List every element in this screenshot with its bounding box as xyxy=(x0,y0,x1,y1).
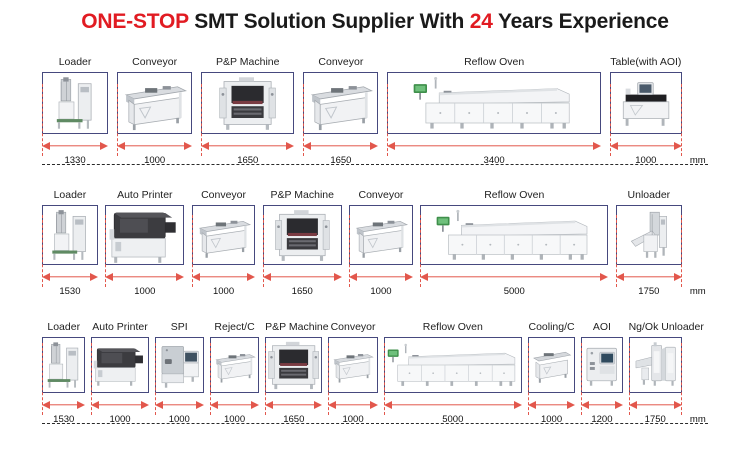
dimension-value: 1750 xyxy=(629,413,682,426)
arrow-shaft xyxy=(310,145,371,146)
equipment-photo-box[interactable] xyxy=(91,337,148,393)
arrow-shaft xyxy=(49,145,101,146)
cooling-conveyor-icon xyxy=(529,338,574,392)
dimension-value: 1000 xyxy=(349,285,412,298)
dimension-tick-left xyxy=(328,343,329,415)
equipment-cell-auto-printer[interactable]: Auto Printer xyxy=(91,320,148,393)
dimension-segment: 1000 xyxy=(610,138,682,167)
unit-label: mm xyxy=(690,285,706,298)
equipment-photo-box[interactable] xyxy=(105,205,184,265)
dimension-arrow xyxy=(42,397,85,413)
dimension-value: 5000 xyxy=(420,285,608,298)
dimension-tick-left xyxy=(616,215,617,287)
equipment-photo-box[interactable] xyxy=(610,72,682,134)
equipment-cell-conveyor[interactable]: Conveyor xyxy=(328,320,377,393)
dimension-value: 1530 xyxy=(42,413,85,426)
dimension-value: 1650 xyxy=(263,285,342,298)
equipment-cell-loader[interactable]: Loader xyxy=(42,320,85,393)
dimension-arrow xyxy=(265,397,322,413)
dimension-segment: 1330 xyxy=(42,138,108,167)
reflow-oven-icon xyxy=(388,73,599,133)
dimension-value: 1000 xyxy=(610,154,682,167)
dimension-tick-left xyxy=(528,343,529,415)
dimension-value: 1750 xyxy=(616,285,682,298)
dimension-segment: 3400 xyxy=(387,138,600,167)
equipment-cell-auto-printer[interactable]: Auto Printer xyxy=(105,188,184,265)
production-line-3: Loader Auto Printer SPI Reject/C xyxy=(42,320,708,426)
conveyor-machine-icon xyxy=(350,206,411,264)
arrow-shaft xyxy=(356,276,405,277)
equipment-cell-cooling-c[interactable]: Cooling/C xyxy=(528,320,575,393)
dimension-segment: 1000 xyxy=(210,397,259,426)
equipment-cell-loader[interactable]: Loader xyxy=(42,55,108,134)
dimension-value: 1000 xyxy=(328,413,377,426)
dimension-tick-right xyxy=(681,215,682,287)
dimension-arrow xyxy=(387,138,600,154)
arrow-head-right-icon xyxy=(370,142,378,150)
dimension-tick-left xyxy=(155,343,156,415)
arrow-shaft xyxy=(98,404,141,405)
production-line-1: Loader Conveyor P&P Machine xyxy=(42,55,708,167)
equipment-label: Loader xyxy=(42,320,85,335)
dimension-segment: 1200 xyxy=(581,397,622,426)
loader-machine-icon xyxy=(43,206,97,264)
unit-label: mm xyxy=(690,413,706,426)
title-text-middle: SMT Solution Supplier With xyxy=(189,10,470,33)
equipment-label: Auto Printer xyxy=(91,320,148,335)
conveyor-machine-icon xyxy=(329,338,376,392)
equipment-cell-spi[interactable]: SPI xyxy=(155,320,204,393)
pnp-machine-icon xyxy=(264,206,341,264)
arrow-head-right-icon xyxy=(196,401,204,409)
dimension-arrow xyxy=(91,397,148,413)
dimension-tick-left xyxy=(210,343,211,415)
dimension-segment: 1000 xyxy=(528,397,575,426)
dimension-value: 5000 xyxy=(384,413,522,426)
dimension-arrow xyxy=(581,397,622,413)
dimension-segment: 5000 xyxy=(384,397,522,426)
dimension-tick-left xyxy=(629,343,630,415)
arrow-shaft xyxy=(112,276,177,277)
equipment-label: Reject/C xyxy=(210,320,259,335)
dimension-segment: 1650 xyxy=(265,397,322,426)
dimension-tick-left xyxy=(42,215,43,287)
dimension-tick-left xyxy=(610,84,611,156)
equipment-photo-box[interactable] xyxy=(629,337,682,393)
equipment-photo-box[interactable] xyxy=(387,72,600,134)
arrow-head-right-icon xyxy=(514,401,522,409)
equipment-photo-box[interactable] xyxy=(420,205,608,265)
pnp-machine-icon xyxy=(202,73,293,133)
dimension-value: 1530 xyxy=(42,285,98,298)
dimension-value: 1000 xyxy=(117,154,192,167)
dimension-arrow xyxy=(384,397,522,413)
equipment-label: Conveyor xyxy=(192,188,255,203)
line-2-dimension-strip: 1530100010001650100050001750mm xyxy=(42,269,708,298)
equipment-label: Reflow Oven xyxy=(387,55,600,70)
arrow-head-right-icon xyxy=(141,401,149,409)
printer-machine-icon xyxy=(106,206,183,264)
arrow-head-right-icon xyxy=(247,273,255,281)
equipment-cell-unloader[interactable]: Unloader xyxy=(616,188,682,265)
arrow-shaft xyxy=(623,276,675,277)
dimension-segment: 1000 xyxy=(155,397,204,426)
unloader-machine-icon xyxy=(617,206,681,264)
dimension-segment: 1000 xyxy=(91,397,148,426)
equipment-photo-box[interactable] xyxy=(616,205,682,265)
dimension-arrow xyxy=(610,138,682,154)
arrow-head-right-icon xyxy=(615,401,623,409)
printer-machine-icon xyxy=(92,338,147,392)
dimension-tick-left xyxy=(42,84,43,156)
arrow-shaft xyxy=(391,404,515,405)
dimension-segment: 1530 xyxy=(42,397,85,426)
equipment-cell-reflow-oven[interactable]: Reflow Oven xyxy=(384,320,522,393)
line-3-dimension-strip: 1530100010001000165010005000100012001750… xyxy=(42,397,708,426)
arrow-head-right-icon xyxy=(176,273,184,281)
arrow-shaft xyxy=(535,404,568,405)
arrow-head-right-icon xyxy=(334,273,342,281)
dimension-segment: 1000 xyxy=(349,269,412,298)
dimension-arrow xyxy=(105,269,184,285)
equipment-photo-box[interactable] xyxy=(303,72,378,134)
equipment-label: Auto Printer xyxy=(105,188,184,203)
equipment-label: P&P Machine xyxy=(263,188,342,203)
dimension-segment: 5000 xyxy=(420,269,608,298)
dimension-tick-left xyxy=(303,84,304,156)
equipment-cell-reflow-oven[interactable]: Reflow Oven xyxy=(387,55,600,134)
dimension-tick-right xyxy=(681,84,682,156)
arrow-head-right-icon xyxy=(567,401,575,409)
dimension-value: 1000 xyxy=(105,285,184,298)
dimension-arrow xyxy=(349,269,412,285)
equipment-cell-table-with-aoi[interactable]: Table(with AOI) xyxy=(610,55,682,134)
equipment-photo-box[interactable] xyxy=(328,337,377,393)
equipment-label: Conveyor xyxy=(349,188,412,203)
dimension-value: 1650 xyxy=(201,154,294,167)
arrow-shaft xyxy=(427,276,601,277)
arrow-head-right-icon xyxy=(314,401,322,409)
arrow-shaft xyxy=(49,276,91,277)
title-accent-years: 24 xyxy=(470,10,493,33)
arrow-shaft xyxy=(617,145,675,146)
dimension-value: 1000 xyxy=(210,413,259,426)
equipment-cell-loader[interactable]: Loader xyxy=(42,188,98,265)
equipment-photo-box[interactable] xyxy=(42,72,108,134)
dimension-segment: 1000 xyxy=(328,397,377,426)
equipment-cell-conveyor[interactable]: Conveyor xyxy=(117,55,192,134)
spi-machine-icon xyxy=(156,338,203,392)
arrow-shaft xyxy=(272,404,315,405)
arrow-head-right-icon xyxy=(286,142,294,150)
arrow-shaft xyxy=(394,145,593,146)
dimension-segment: 1000 xyxy=(192,269,255,298)
equipment-cell-p-p-machine[interactable]: P&P Machine xyxy=(263,188,342,265)
pnp-machine-icon xyxy=(266,338,321,392)
arrow-head-right-icon xyxy=(370,401,378,409)
dimension-arrow xyxy=(192,269,255,285)
arrow-shaft xyxy=(217,404,252,405)
dimension-segment: 1000 xyxy=(105,269,184,298)
unit-label: mm xyxy=(690,154,706,167)
equipment-label: P&P Machine xyxy=(265,320,322,335)
arrow-shaft xyxy=(335,404,370,405)
dimension-segment: 1750 xyxy=(616,269,682,298)
title-accent-one-stop: ONE-STOP xyxy=(81,10,188,33)
dimension-tick-left xyxy=(105,215,106,287)
equipment-photo-box[interactable] xyxy=(528,337,575,393)
dimension-value: 1330 xyxy=(42,154,108,167)
equipment-cell-p-p-machine[interactable]: P&P Machine xyxy=(201,55,294,134)
title-text-end: Years Experience xyxy=(493,10,669,33)
equipment-photo-box[interactable] xyxy=(42,337,85,393)
equipment-label: Reflow Oven xyxy=(420,188,608,203)
arrow-head-right-icon xyxy=(600,273,608,281)
equipment-cell-reflow-oven[interactable]: Reflow Oven xyxy=(420,188,608,265)
aoi-table-icon xyxy=(611,73,681,133)
loader-machine-icon xyxy=(43,338,84,392)
equipment-label: Ng/Ok Unloader xyxy=(629,320,682,335)
equipment-photo-box[interactable] xyxy=(201,72,294,134)
equipment-label: Conveyor xyxy=(328,320,377,335)
equipment-label: SPI xyxy=(155,320,204,335)
dimension-value: 1000 xyxy=(91,413,148,426)
arrow-shaft xyxy=(49,404,78,405)
arrow-head-right-icon xyxy=(251,401,259,409)
dimension-tick-left xyxy=(91,343,92,415)
arrow-head-right-icon xyxy=(405,273,413,281)
line-2-equipment-strip: Loader Auto Printer Conveyor P&P Machine xyxy=(42,188,708,265)
dimension-value: 3400 xyxy=(387,154,600,167)
arrow-shaft xyxy=(199,276,248,277)
dimension-value: 1000 xyxy=(528,413,575,426)
dimension-arrow xyxy=(528,397,575,413)
dimension-segment: 1650 xyxy=(201,138,294,167)
dimension-arrow xyxy=(263,269,342,285)
dimension-tick-left xyxy=(201,84,202,156)
equipment-label: Loader xyxy=(42,188,98,203)
production-line-2: Loader Auto Printer Conveyor P&P Machine xyxy=(42,188,708,298)
dimension-tick-left xyxy=(349,215,350,287)
dimension-value: 1000 xyxy=(192,285,255,298)
line-1-equipment-strip: Loader Conveyor P&P Machine xyxy=(42,55,708,134)
equipment-photo-box[interactable] xyxy=(263,205,342,265)
equipment-photo-box[interactable] xyxy=(155,337,204,393)
reflow-oven-icon xyxy=(421,206,607,264)
reflow-oven-icon xyxy=(385,338,521,392)
dimension-segment: 1530 xyxy=(42,269,98,298)
dimension-arrow xyxy=(42,269,98,285)
ngok-unloader-icon xyxy=(630,338,681,392)
equipment-label: AOI xyxy=(581,320,622,335)
dimension-value: 1650 xyxy=(265,413,322,426)
dimension-tick-left xyxy=(265,343,266,415)
dimension-value: 1650 xyxy=(303,154,378,167)
conveyor-machine-icon xyxy=(211,338,258,392)
dimension-tick-left xyxy=(581,343,582,415)
line-baseline xyxy=(42,164,708,165)
dimension-arrow xyxy=(303,138,378,154)
dimension-arrow xyxy=(420,269,608,285)
equipment-label: Unloader xyxy=(616,188,682,203)
line-1-dimension-strip: 133010001650165034001000mm xyxy=(42,138,708,167)
equipment-label: Reflow Oven xyxy=(384,320,522,335)
arrow-head-right-icon xyxy=(90,273,98,281)
dimension-arrow xyxy=(210,397,259,413)
dimension-arrow xyxy=(155,397,204,413)
arrow-shaft xyxy=(162,404,197,405)
arrow-shaft xyxy=(636,404,675,405)
equipment-photo-box[interactable] xyxy=(349,205,412,265)
arrow-shaft xyxy=(124,145,185,146)
arrow-head-right-icon xyxy=(77,401,85,409)
equipment-cell-conveyor[interactable]: Conveyor xyxy=(349,188,412,265)
dimension-tick-left xyxy=(117,84,118,156)
arrow-shaft xyxy=(588,404,615,405)
conveyor-machine-icon xyxy=(193,206,254,264)
dimension-arrow xyxy=(328,397,377,413)
dimension-value: 1000 xyxy=(155,413,204,426)
equipment-photo-box[interactable] xyxy=(42,205,98,265)
equipment-label: Table(with AOI) xyxy=(610,55,682,70)
conveyor-machine-icon xyxy=(304,73,377,133)
equipment-label: Loader xyxy=(42,55,108,70)
dimension-segment: 1650 xyxy=(263,269,342,298)
arrow-head-right-icon xyxy=(184,142,192,150)
dimension-arrow xyxy=(616,269,682,285)
page-title: ONE-STOP SMT Solution Supplier With 24 Y… xyxy=(0,10,750,34)
equipment-label: Cooling/C xyxy=(528,320,575,335)
equipment-label: Conveyor xyxy=(117,55,192,70)
arrow-shaft xyxy=(208,145,287,146)
equipment-cell-conveyor[interactable]: Conveyor xyxy=(303,55,378,134)
arrow-head-right-icon xyxy=(593,142,601,150)
dimension-value: 1200 xyxy=(581,413,622,426)
dimension-segment: 1750 xyxy=(629,397,682,426)
dimension-arrow xyxy=(42,138,108,154)
equipment-photo-box[interactable] xyxy=(265,337,322,393)
equipment-label: P&P Machine xyxy=(201,55,294,70)
dimension-tick-left xyxy=(384,343,385,415)
dimension-tick-left xyxy=(42,343,43,415)
line-3-equipment-strip: Loader Auto Printer SPI Reject/C xyxy=(42,320,708,393)
equipment-cell-p-p-machine[interactable]: P&P Machine xyxy=(265,320,322,393)
equipment-cell-conveyor[interactable]: Conveyor xyxy=(192,188,255,265)
equipment-photo-box[interactable] xyxy=(192,205,255,265)
dimension-segment: 1650 xyxy=(303,138,378,167)
dimension-tick-left xyxy=(263,215,264,287)
equipment-label: Conveyor xyxy=(303,55,378,70)
dimension-tick-right xyxy=(681,343,682,415)
dimension-arrow xyxy=(117,138,192,154)
equipment-photo-box[interactable] xyxy=(210,337,259,393)
dimension-tick-left xyxy=(387,84,388,156)
aoi-machine-icon xyxy=(582,338,621,392)
equipment-photo-box[interactable] xyxy=(117,72,192,134)
line-baseline xyxy=(42,423,708,424)
arrow-head-right-icon xyxy=(100,142,108,150)
equipment-photo-box[interactable] xyxy=(581,337,622,393)
loader-machine-icon xyxy=(43,73,107,133)
dimension-tick-left xyxy=(420,215,421,287)
equipment-cell-ng-ok-unloader[interactable]: Ng/Ok Unloader xyxy=(629,320,682,393)
equipment-photo-box[interactable] xyxy=(384,337,522,393)
conveyor-machine-icon xyxy=(118,73,191,133)
arrow-shaft xyxy=(270,276,335,277)
equipment-cell-aoi[interactable]: AOI xyxy=(581,320,622,393)
dimension-arrow xyxy=(201,138,294,154)
equipment-cell-reject-c[interactable]: Reject/C xyxy=(210,320,259,393)
dimension-arrow xyxy=(629,397,682,413)
dimension-segment: 1000 xyxy=(117,138,192,167)
dimension-tick-left xyxy=(192,215,193,287)
